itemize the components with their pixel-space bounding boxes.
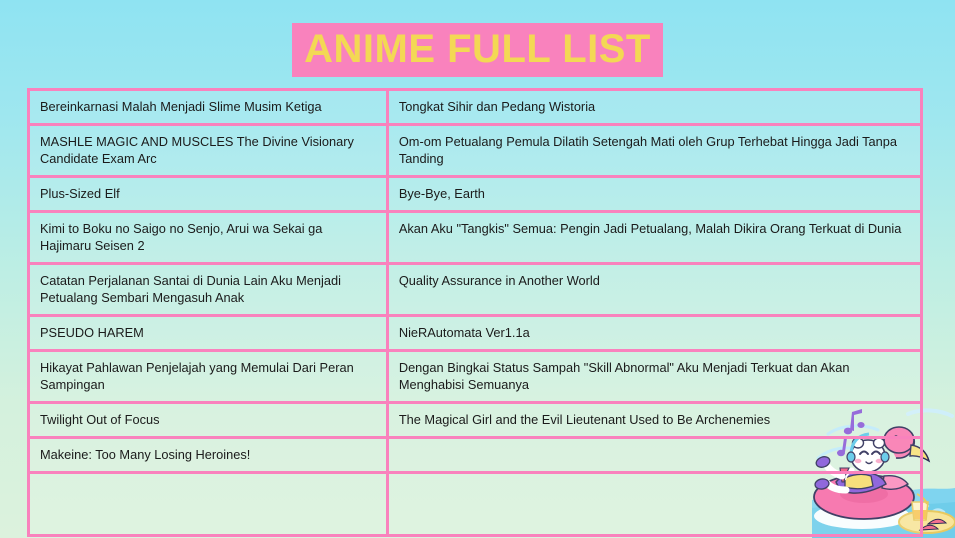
table-row[interactable]: Bereinkarnasi Malah Menjadi Slime Musim … [30,91,920,126]
table-row[interactable]: Kimi to Boku no Saigo no Senjo, Arui wa … [30,213,920,265]
anime-title-cell-right[interactable]: NieRAutomata Ver1.1a [389,317,920,352]
anime-title-cell-left[interactable]: Makeine: Too Many Losing Heroines! [30,439,389,474]
table-body: Bereinkarnasi Malah Menjadi Slime Musim … [30,91,920,534]
table-row[interactable]: PSEUDO HAREM NieRAutomata Ver1.1a [30,317,920,352]
anime-title-cell-left[interactable] [30,474,389,534]
table-row[interactable] [30,474,920,534]
anime-title-cell-left[interactable]: Plus-Sized Elf [30,178,389,213]
anime-title-cell-right[interactable]: The Magical Girl and the Evil Lieutenant… [389,404,920,439]
table-row[interactable]: Twilight Out of Focus The Magical Girl a… [30,404,920,439]
anime-title-cell-left[interactable]: Bereinkarnasi Malah Menjadi Slime Musim … [30,91,389,126]
anime-title-cell-left[interactable]: MASHLE MAGIC AND MUSCLES The Divine Visi… [30,126,389,178]
page-title-text: ANIME FULL LIST [292,23,663,77]
anime-title-cell-right[interactable]: Quality Assurance in Another World [389,265,920,317]
slide-canvas: ANIME FULL LIST Bereinkarnasi Malah Menj… [0,0,955,538]
anime-title-cell-right[interactable]: Akan Aku "Tangkis" Semua: Pengin Jadi Pe… [389,213,920,265]
anime-title-cell-right[interactable] [389,439,920,474]
table-row[interactable]: Makeine: Too Many Losing Heroines! [30,439,920,474]
anime-title-cell-right[interactable]: Dengan Bingkai Status Sampah "Skill Abno… [389,352,920,404]
anime-title-cell-right[interactable]: Tongkat Sihir dan Pedang Wistoria [389,91,920,126]
page-title: ANIME FULL LIST [0,23,955,77]
anime-title-cell-left[interactable]: Twilight Out of Focus [30,404,389,439]
table-row[interactable]: Hikayat Pahlawan Penjelajah yang Memulai… [30,352,920,404]
anime-title-cell-left[interactable]: Hikayat Pahlawan Penjelajah yang Memulai… [30,352,389,404]
table-row[interactable]: Catatan Perjalanan Santai di Dunia Lain … [30,265,920,317]
anime-title-cell-right[interactable]: Om-om Petualang Pemula Dilatih Setengah … [389,126,920,178]
anime-title-cell-right[interactable]: Bye-Bye, Earth [389,178,920,213]
anime-title-cell-left[interactable]: PSEUDO HAREM [30,317,389,352]
anime-title-cell-right[interactable] [389,474,920,534]
table-row[interactable]: MASHLE MAGIC AND MUSCLES The Divine Visi… [30,126,920,178]
anime-list-table: Bereinkarnasi Malah Menjadi Slime Musim … [27,88,923,537]
table-row[interactable]: Plus-Sized Elf Bye-Bye, Earth [30,178,920,213]
anime-title-cell-left[interactable]: Catatan Perjalanan Santai di Dunia Lain … [30,265,389,317]
anime-title-cell-left[interactable]: Kimi to Boku no Saigo no Senjo, Arui wa … [30,213,389,265]
